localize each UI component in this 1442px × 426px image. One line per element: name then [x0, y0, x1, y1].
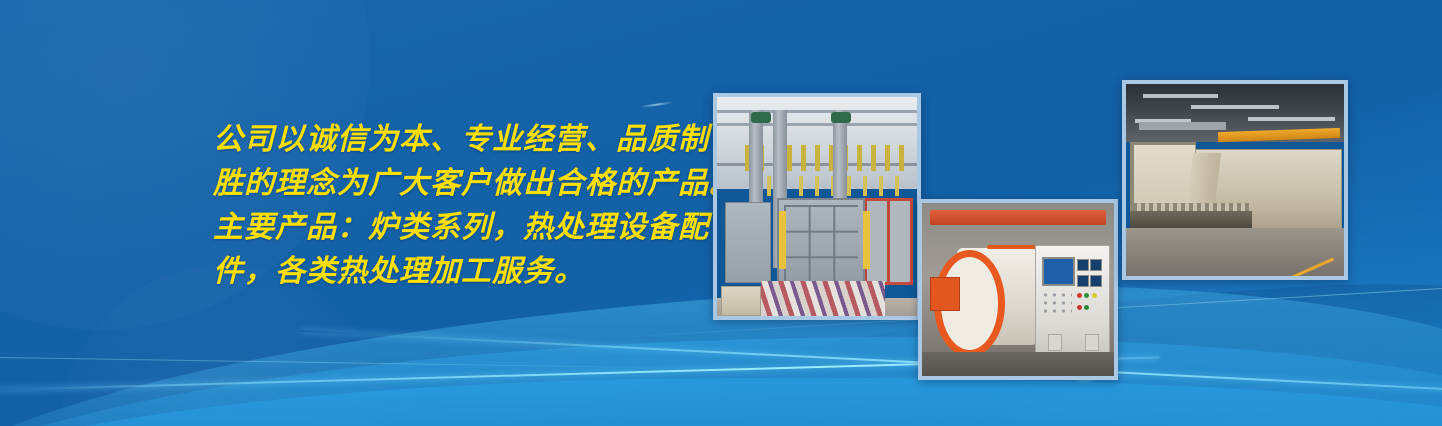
headline-line-3: 主要产品：炉类系列，热处理设备配 [213, 206, 733, 250]
concrete-floor [922, 352, 1114, 376]
headline-copy: 公司以诚信为本、专业经营、品质制 胜的理念为广大客户做出合格的产品。 主要产品：… [213, 118, 733, 294]
box-furnace-workshop-photo [713, 93, 921, 320]
covered-material [761, 281, 885, 316]
storage-crate [721, 286, 761, 316]
ventilation-duct [1139, 122, 1226, 130]
photo-1-content [717, 97, 917, 316]
background-wave-band-3 [0, 366, 1442, 426]
main-furnace-door [777, 198, 865, 290]
control-box [930, 277, 961, 310]
conveyor-rail [1130, 211, 1252, 228]
hmi-touchscreen [1042, 257, 1075, 286]
light-streak-thin-lower [0, 356, 700, 369]
light-streak-top-accent [640, 101, 674, 108]
photo-3-content [1126, 84, 1344, 276]
background-wave-band-2 [0, 318, 1442, 426]
side-furnace-door [725, 202, 771, 283]
light-streak-secondary [300, 330, 1442, 393]
headline-line-2: 胜的理念为广大客户做出合格的产品。 [213, 162, 733, 206]
headline-line-4: 件，各类热处理加工服务。 [213, 250, 733, 294]
headline-line-1: 公司以诚信为本、专业经营、品质制 [213, 118, 733, 162]
company-banner: 公司以诚信为本、专业经营、品质制 胜的理念为广大客户做出合格的产品。 主要产品：… [0, 0, 1442, 426]
vacuum-furnace-photo [918, 199, 1118, 380]
overhead-crane-beam [930, 210, 1107, 226]
photo-2-content [922, 203, 1114, 376]
button-panel [1041, 291, 1072, 316]
continuous-furnace-line-photo [1122, 80, 1348, 280]
control-cabinet [1035, 245, 1110, 361]
